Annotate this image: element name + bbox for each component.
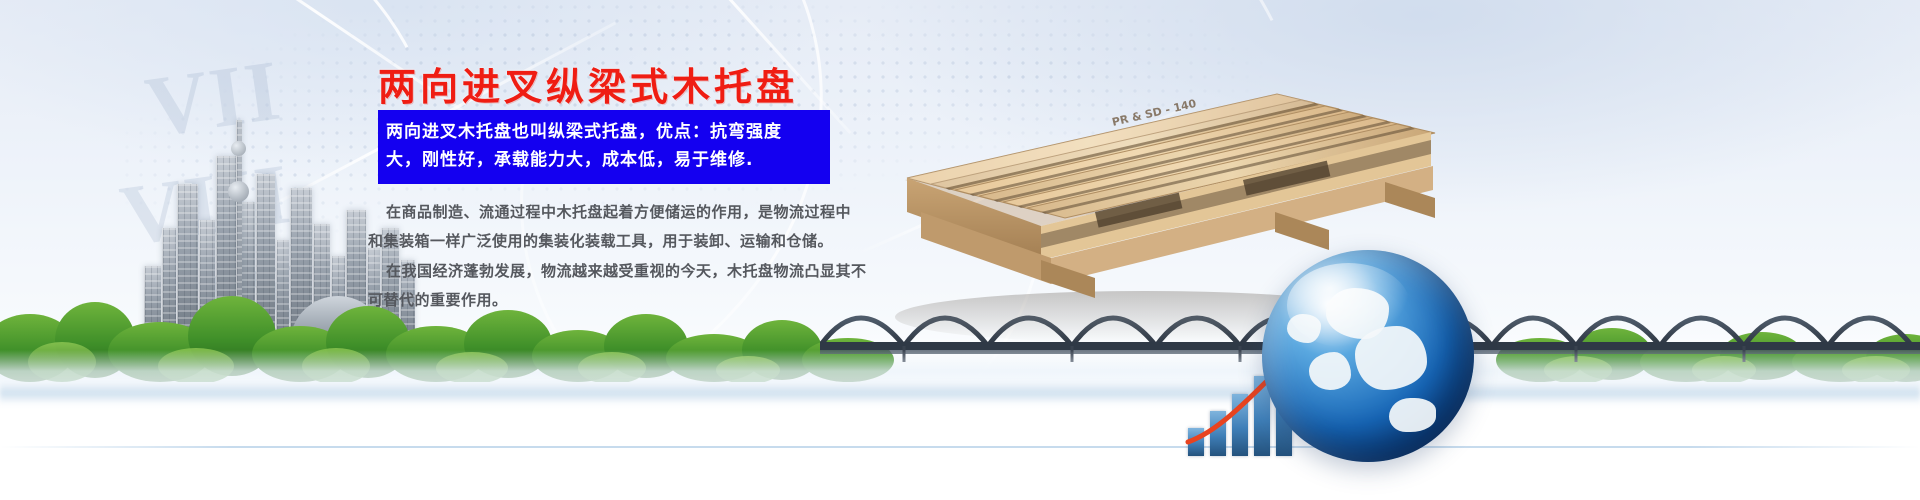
page-title: 两向进叉纵梁式木托盘 xyxy=(378,56,798,111)
water-reflection xyxy=(0,350,1920,500)
accent-rule xyxy=(0,446,1920,448)
product-banner: VII VIII IX XII xyxy=(0,0,1920,500)
highlight-callout: 两向进叉木托盘也叫纵梁式托盘，优点：抗弯强度 大，刚性好，承载能力大，成本低，易… xyxy=(378,110,830,184)
highlight-line: 两向进叉木托盘也叫纵梁式托盘，优点：抗弯强度 xyxy=(386,119,822,147)
highlight-line: 大，刚性好，承载能力大，成本低，易于维修. xyxy=(386,147,822,175)
paragraph-line: 和集装箱一样广泛使用的集装化装载工具，用于装卸、运输和仓储。 xyxy=(368,227,846,256)
globe-graphic xyxy=(1262,250,1474,462)
paragraph-line: 可替代的重要作用。 xyxy=(368,286,846,315)
paragraph-line: 在我国经济蓬勃发展，物流越来越受重视的今天，木托盘物流凸显其不 xyxy=(368,257,846,286)
water-sheen xyxy=(0,382,1920,404)
description-paragraph: 在商品制造、流通过程中木托盘起着方便储运的作用，是物流过程中 和集装箱一样广泛使… xyxy=(368,198,846,315)
paragraph-line: 在商品制造、流通过程中木托盘起着方便储运的作用，是物流过程中 xyxy=(368,198,846,227)
